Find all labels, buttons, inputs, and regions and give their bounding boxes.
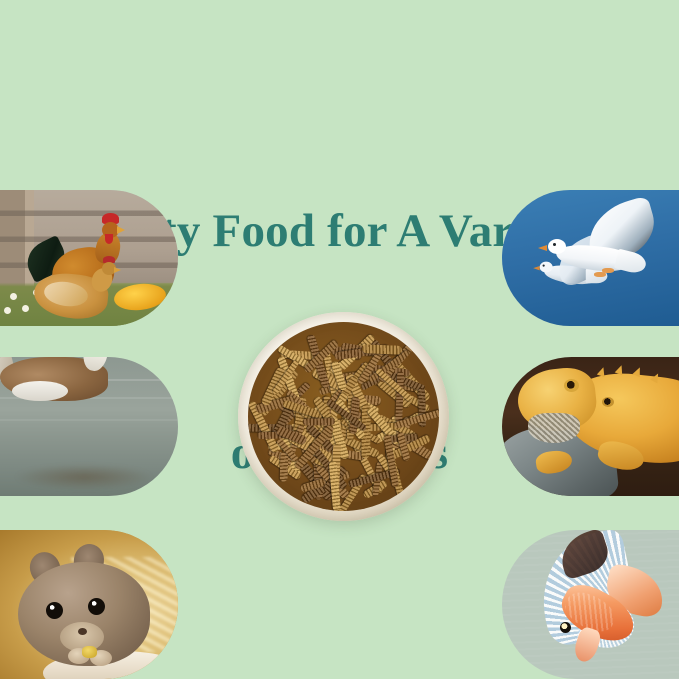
mealworm-bowl [238,312,449,521]
photo-card-betta-fish [502,530,679,679]
bearded-dragon-photo [502,357,679,496]
photo-card-hamster [0,530,178,679]
photo-card-bearded-dragon [502,357,679,496]
mealworm [362,344,403,354]
seagulls-photo [502,190,679,326]
photo-card-chickens [0,190,178,326]
product-poster: Tasty Food for A Variety of Animals [0,0,679,679]
photo-card-seagulls [502,190,679,326]
hamster-photo [0,530,178,679]
mealworm [280,451,288,482]
betta-fish-photo [502,530,679,679]
mealworm [303,417,335,425]
chickens-photo [0,190,178,326]
mealworms-pile [248,322,439,511]
photo-card-duck [0,357,178,496]
duck-photo [0,357,178,496]
pumpkin-shape [113,281,167,312]
